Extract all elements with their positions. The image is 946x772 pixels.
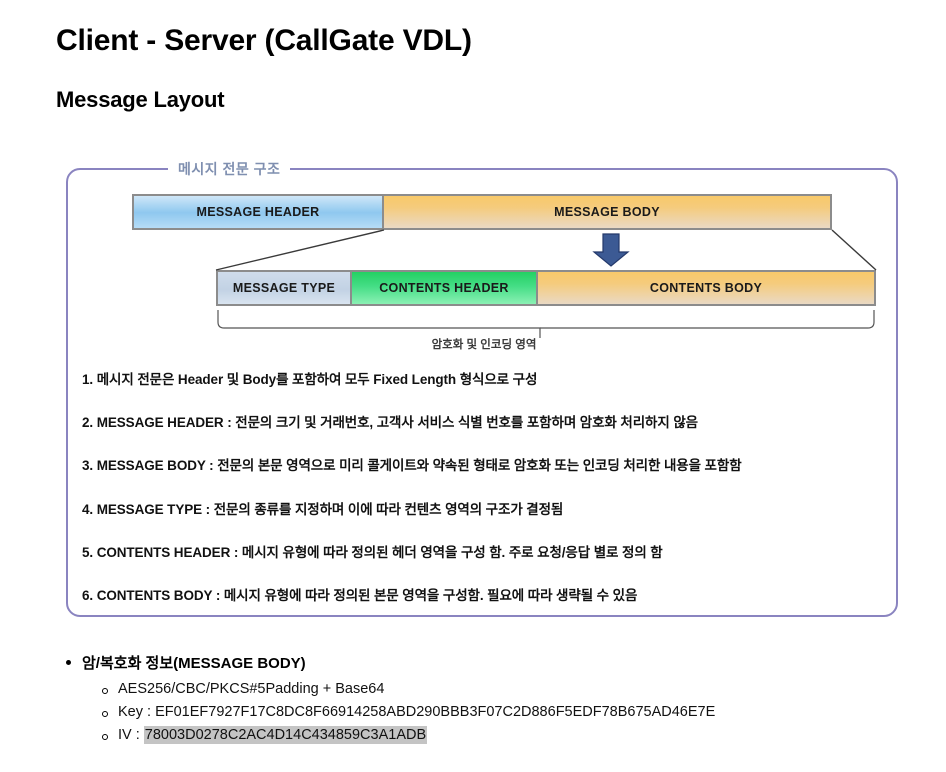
bracket-left [218, 310, 540, 338]
message-layout-diagram: 메시지 전문 구조 MESSAGE HEADER MESSAGE BODY ME… [66, 168, 898, 617]
crypto-key-label: Key : [118, 704, 155, 720]
note-item-5: 5. CONTENTS HEADER : 메시지 유형에 따라 정의된 헤더 영… [82, 545, 894, 561]
crypto-algorithm: AES256/CBC/PKCS#5Padding + Base64 [56, 681, 916, 697]
bracket-caption: 암호화 및 인코딩 영역 [68, 336, 900, 352]
bracket-right [540, 310, 874, 328]
note-item-1: 1. 메시지 전문은 Header 및 Body를 포함하여 모두 Fixed … [82, 372, 894, 388]
section-title: Message Layout [0, 58, 946, 113]
segment-contents-header: CONTENTS HEADER [352, 270, 538, 306]
connector-line-left [216, 230, 384, 270]
diagram-title-wrap: 메시지 전문 구조 [168, 158, 290, 180]
crypto-info-list: 암/복호화 정보(MESSAGE BODY) AES256/CBC/PKCS#5… [56, 652, 916, 750]
segment-message-body: MESSAGE BODY [384, 194, 832, 230]
note-item-3: 3. MESSAGE BODY : 전문의 본문 영역으로 미리 콜게이트와 약… [82, 458, 894, 474]
segment-contents-body: CONTENTS BODY [538, 270, 876, 306]
note-item-2: 2. MESSAGE HEADER : 전문의 크기 및 거래번호, 고객사 서… [82, 415, 894, 431]
page-title: Client - Server (CallGate VDL) [0, 0, 946, 58]
crypto-iv-row: IV : 78003D0278C2AC4D14C434859C3A1ADB [56, 727, 916, 743]
crypto-iv-label: IV : [118, 727, 144, 743]
note-item-6: 6. CONTENTS BODY : 메시지 유형에 따라 정의된 본문 영역을… [82, 588, 894, 604]
crypto-key-row: Key : EF01EF7927F17C8DC8F66914258ABD290B… [56, 704, 916, 720]
crypto-iv-value: 78003D0278C2AC4D14C434859C3A1ADB [144, 726, 427, 744]
diagram-title: 메시지 전문 구조 [178, 159, 280, 179]
crypto-heading: 암/복호화 정보(MESSAGE BODY) [56, 652, 916, 673]
message-bar-row-top: MESSAGE HEADER MESSAGE BODY [132, 194, 832, 230]
note-item-4: 4. MESSAGE TYPE : 전문의 종류를 지정하며 이에 따라 컨텐츠… [82, 502, 894, 518]
crypto-key-value: EF01EF7927F17C8DC8F66914258ABD290BBB3F07… [155, 704, 715, 720]
diagram-notes: 1. 메시지 전문은 Header 및 Body를 포함하여 모두 Fixed … [82, 372, 894, 631]
segment-message-type: MESSAGE TYPE [216, 270, 352, 306]
segment-message-header: MESSAGE HEADER [132, 194, 384, 230]
message-bar-row-expanded: MESSAGE TYPE CONTENTS HEADER CONTENTS BO… [216, 270, 876, 306]
down-arrow-icon [594, 234, 628, 266]
connector-line-right [832, 230, 876, 270]
